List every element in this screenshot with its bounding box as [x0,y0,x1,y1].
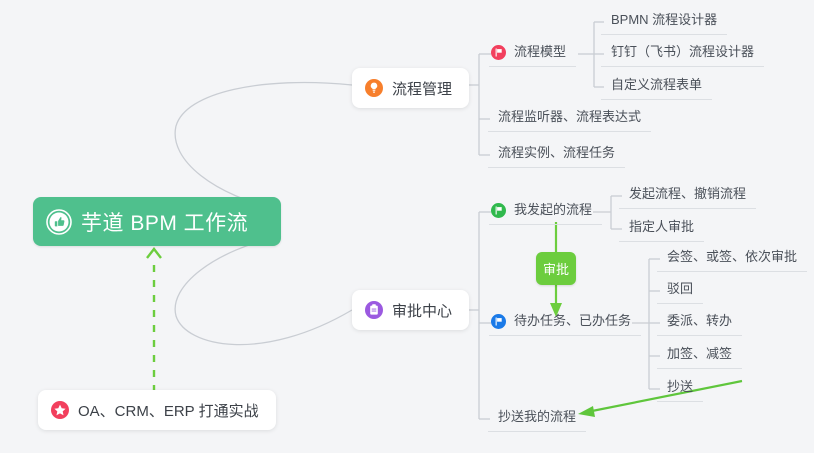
node-my-started-processes[interactable]: 我发起的流程 [489,201,602,225]
wire-root-to-approval-center [175,236,352,345]
lightbulb-icon [365,79,383,97]
leaf-add-remove-sign[interactable]: 加签、减签 [657,345,742,369]
approval-badge-label: 审批 [543,259,569,278]
root-label: 芋道 BPM 工作流 [81,207,248,237]
leaf-start-cancel-process[interactable]: 发起流程、撤销流程 [619,185,756,209]
node-process-model[interactable]: 流程模型 [489,43,576,67]
clipboard-icon [365,301,383,319]
node-process-model-label: 流程模型 [514,43,566,61]
root-node[interactable]: 芋道 BPM 工作流 [33,197,281,246]
leaf-custom-form[interactable]: 自定义流程表单 [601,76,712,100]
leaf-process-instance-task[interactable]: 流程实例、流程任务 [488,144,625,168]
leaf-dingtalk-designer[interactable]: 钉钉（飞书）流程设计器 [601,43,764,67]
node-approval-center-label: 审批中心 [392,300,452,321]
node-oa-crm-erp-integration[interactable]: OA、CRM、ERP 打通实战 [38,390,276,430]
leaf-bpmn-designer[interactable]: BPMN 流程设计器 [601,11,727,35]
star-icon [51,401,69,419]
thumbs-up-icon [46,209,72,235]
leaf-reject[interactable]: 驳回 [657,280,703,304]
node-my-started-processes-label: 我发起的流程 [514,201,592,219]
leaf-process-listener-expression[interactable]: 流程监听器、流程表达式 [488,108,651,132]
node-todo-done-tasks-label: 待办任务、已办任务 [514,312,631,330]
flag-icon [491,203,506,218]
leaf-delegate-transfer[interactable]: 委派、转办 [657,312,742,336]
leaf-cc[interactable]: 抄送 [657,378,703,402]
leaf-assigned-approval[interactable]: 指定人审批 [619,218,704,242]
dashed-arrowhead-up [147,249,161,258]
wire-root-to-process-mgmt [175,83,352,210]
flag-icon [491,314,506,329]
node-approval-center[interactable]: 审批中心 [352,290,469,330]
node-process-management-label: 流程管理 [392,78,452,99]
approval-badge: 审批 [536,252,576,285]
leaf-countersign[interactable]: 会签、或签、依次审批 [657,248,807,272]
mindmap-canvas: 芋道 BPM 工作流 流程管理 流程模型 BPMN 流程设计器 钉钉（飞书）流程… [0,0,814,453]
leaf-cc-my-processes[interactable]: 抄送我的流程 [488,408,586,432]
node-process-management[interactable]: 流程管理 [352,68,469,108]
flag-icon [491,45,506,60]
node-oa-crm-erp-integration-label: OA、CRM、ERP 打通实战 [78,400,259,421]
node-todo-done-tasks[interactable]: 待办任务、已办任务 [489,312,641,336]
